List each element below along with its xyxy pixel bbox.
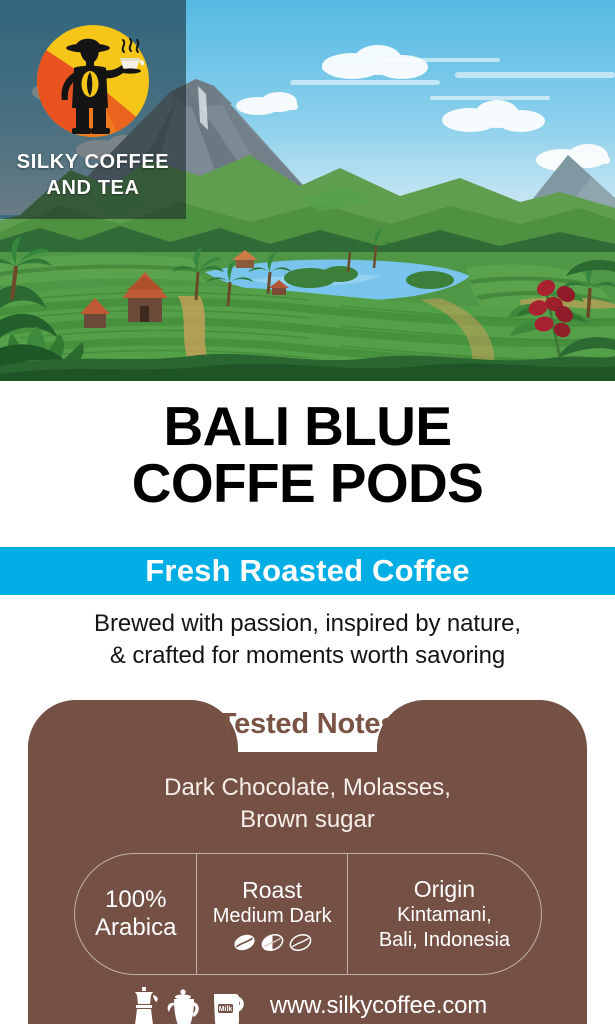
banner-text: Fresh Roasted Coffee: [145, 553, 469, 589]
spec-cell-origin: Origin Kintamani, Bali, Indonesia: [348, 854, 541, 974]
moka-pot-icon: [128, 986, 160, 1024]
tagline-line-1: Brewed with passion, inspired by nature,: [0, 608, 615, 640]
website-url: www.silkycoffee.com: [270, 992, 487, 1020]
roast-value: Medium Dark: [213, 905, 332, 929]
spec-box: 100% Arabica Roast Medium Dark: [74, 853, 542, 975]
coffee-bean-half-icon: [261, 934, 284, 951]
tasting-notes-line-1: Dark Chocolate, Molasses,: [28, 772, 587, 804]
coffee-bean-filled-icon: [233, 934, 256, 951]
milk-jug-icon: Milk: [208, 986, 248, 1024]
product-title-line-2: COFFE PODS: [0, 455, 615, 512]
origin-label: Origin: [414, 876, 475, 903]
tasting-notes-text: Dark Chocolate, Molasses, Brown sugar: [28, 772, 587, 835]
coffee-bean-empty-icon: [289, 934, 312, 951]
spec-cell-arabica: 100% Arabica: [75, 854, 196, 974]
tagline: Brewed with passion, inspired by nature,…: [0, 608, 615, 672]
roast-level-beans: [233, 934, 312, 951]
spec-cell-roast: Roast Medium Dark: [196, 854, 347, 974]
arabica-label: Arabica: [95, 914, 176, 942]
roast-label: Roast: [242, 877, 302, 904]
farmer-with-coffee-cup-badge-icon: [34, 22, 152, 140]
page-title: BALI BLUE COFFE PODS: [0, 398, 615, 512]
tasting-notes-line-2: Brown sugar: [28, 804, 587, 836]
brand-logo-panel: SILKY COFFEE AND TEA: [0, 0, 186, 219]
freshness-banner: Fresh Roasted Coffee: [0, 547, 615, 595]
origin-value-line-1: Kintamani,: [397, 904, 492, 928]
teapot-icon: [166, 986, 202, 1024]
brewing-equipment-icons: Milk: [128, 986, 248, 1024]
tagline-line-2: & crafted for moments worth savoring: [0, 640, 615, 672]
panel-footer: Milk www.silkycoffee.com: [28, 986, 587, 1024]
arabica-percent: 100%: [105, 886, 166, 914]
product-title-line-1: BALI BLUE: [0, 398, 615, 455]
product-label: SILKY COFFEE AND TEA BALI BLUE COFFE POD…: [0, 0, 615, 1024]
brand-name-line-1: SILKY COFFEE: [0, 150, 186, 176]
brand-name: SILKY COFFEE AND TEA: [0, 150, 186, 201]
brand-name-line-2: AND TEA: [0, 176, 186, 202]
tasting-notes-panel: Tested Notes Dark Chocolate, Molasses, B…: [28, 700, 587, 1024]
origin-value-line-2: Bali, Indonesia: [379, 929, 510, 953]
svg-text:Milk: Milk: [219, 1006, 233, 1013]
tested-notes-heading: Tested Notes: [28, 708, 587, 741]
